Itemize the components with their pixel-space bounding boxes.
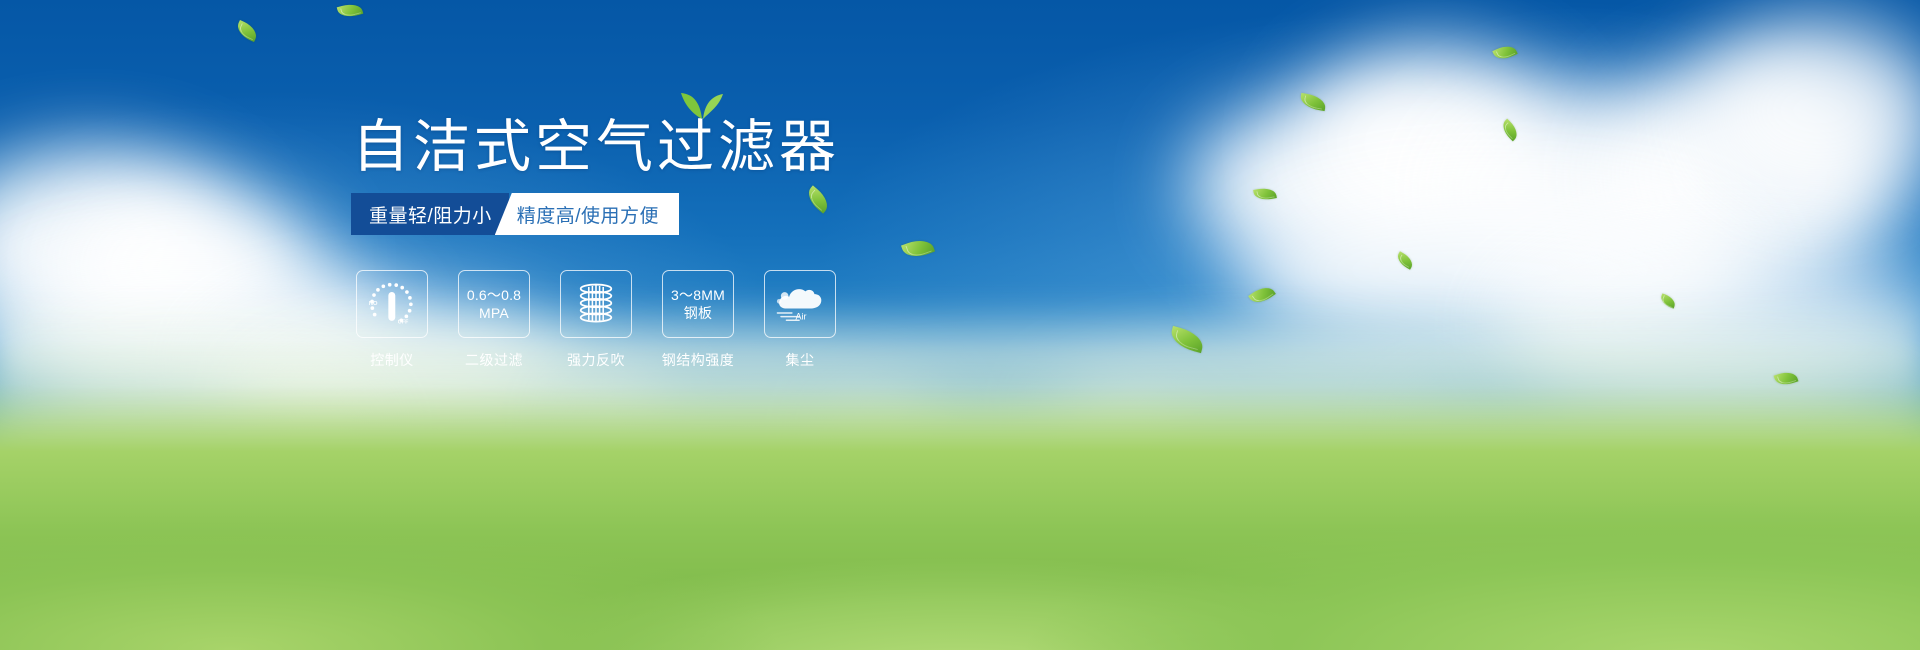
badge-precision[interactable]: 精度高/使用方便 bbox=[495, 193, 679, 235]
feature-caption-pressure: 二级过滤 bbox=[465, 350, 523, 370]
badge-lightweight[interactable]: 重量轻/阻力小 bbox=[351, 193, 509, 235]
feature-caption-control: 控制仪 bbox=[370, 350, 414, 370]
control-dial-icon: NO OFF bbox=[363, 278, 421, 330]
feature-item-pressure[interactable]: 0.6～0.8 MPA 二级过滤 bbox=[457, 270, 531, 370]
pressure-unit-text: MPA bbox=[479, 304, 509, 322]
hero-banner: 自洁式空气过滤器 重量轻/阻力小 精度高/使用方便 bbox=[0, 0, 1920, 650]
svg-text:NO: NO bbox=[369, 301, 378, 307]
feature-caption-dust: 集尘 bbox=[786, 350, 815, 370]
title-leaf-icon bbox=[679, 90, 725, 120]
feature-caption-blowback: 强力反吹 bbox=[567, 350, 625, 370]
banner-content: 自洁式空气过滤器 重量轻/阻力小 精度高/使用方便 bbox=[0, 0, 1920, 650]
feature-item-blowback[interactable]: 强力反吹 bbox=[559, 270, 633, 370]
feature-box-pressure: 0.6～0.8 MPA bbox=[458, 270, 530, 338]
dust-cloud-icon: Air bbox=[772, 281, 828, 327]
pressure-range-text: 0.6～0.8 bbox=[467, 286, 521, 304]
feature-box-blowback bbox=[560, 270, 632, 338]
feature-item-dust[interactable]: Air 集尘 bbox=[763, 270, 837, 370]
feature-box-dust: Air bbox=[764, 270, 836, 338]
feature-caption-steel: 钢结构强度 bbox=[662, 350, 735, 370]
feature-item-steel[interactable]: 3～8MM 钢板 钢结构强度 bbox=[661, 270, 735, 370]
badge-group: 重量轻/阻力小 精度高/使用方便 bbox=[351, 193, 679, 235]
feature-list: NO OFF 控制仪 0.6～0.8 MPA 二级过滤 bbox=[355, 270, 837, 370]
dust-air-label: Air bbox=[795, 311, 806, 321]
filter-cartridge-icon bbox=[569, 279, 623, 329]
steel-plate-text: 钢板 bbox=[684, 304, 712, 322]
page-title: 自洁式空气过滤器 bbox=[352, 116, 840, 178]
feature-item-control[interactable]: NO OFF 控制仪 bbox=[355, 270, 429, 370]
feature-box-steel: 3～8MM 钢板 bbox=[662, 270, 734, 338]
steel-thickness-text: 3～8MM bbox=[671, 286, 725, 304]
feature-box-control: NO OFF bbox=[356, 270, 428, 338]
svg-text:OFF: OFF bbox=[398, 319, 409, 325]
